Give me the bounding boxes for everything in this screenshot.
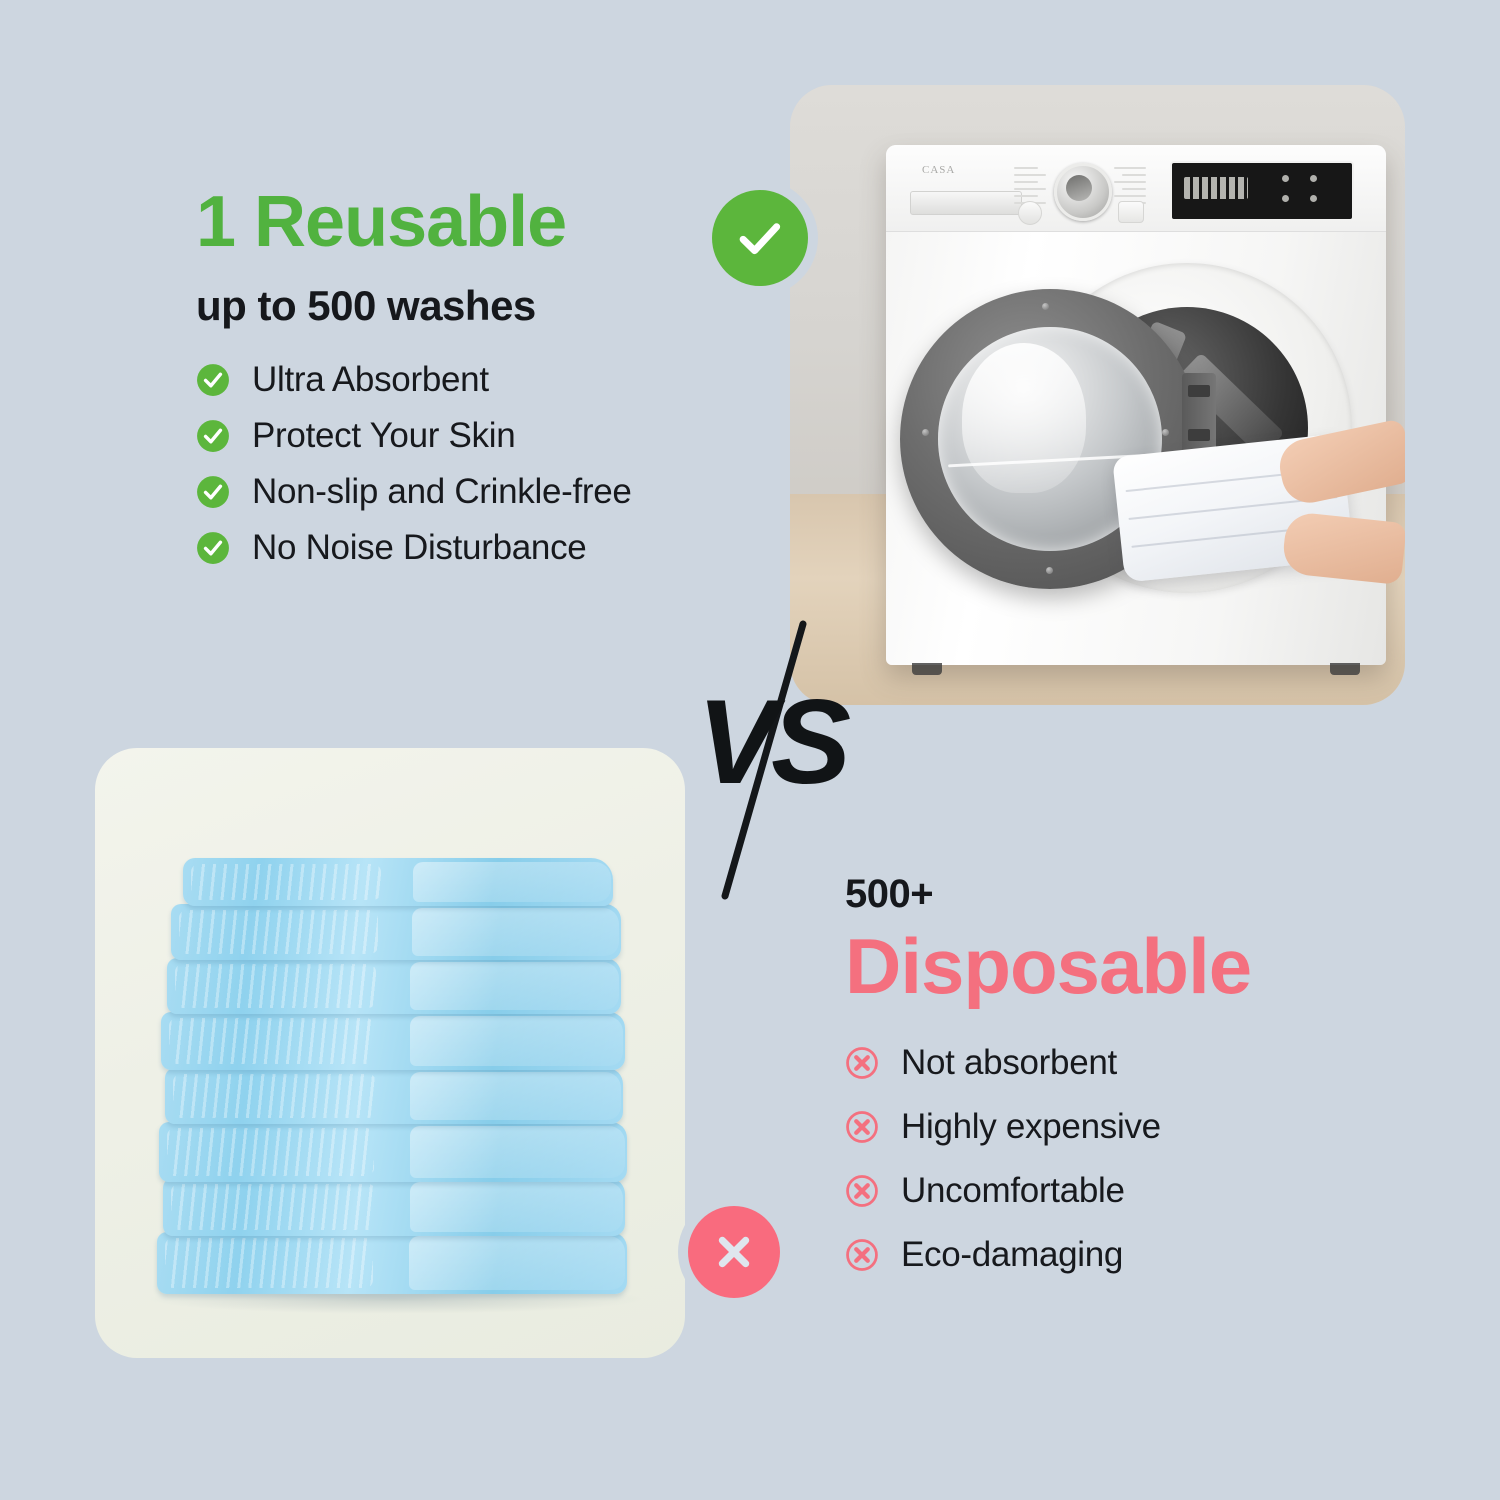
- list-item: Non-slip and Crinkle-free: [196, 472, 756, 512]
- folded-pad: [159, 1122, 627, 1182]
- folded-pad-top: [183, 858, 613, 906]
- lcd-indicator-2: [1310, 175, 1317, 182]
- list-item: Uncomfortable: [845, 1171, 1405, 1211]
- versus-label: VS: [697, 682, 845, 802]
- reusable-text-block: 1 Reusable up to 500 washes Ultra Absorb…: [196, 186, 756, 584]
- reusable-feature-list: Ultra Absorbent Protect Your Skin Non-sl…: [196, 360, 756, 568]
- program-dial: [1054, 163, 1112, 221]
- list-item: Protect Your Skin: [196, 416, 756, 456]
- feature-label: Protect Your Skin: [252, 416, 515, 456]
- lcd-display: [1170, 161, 1354, 221]
- lcd-indicator-4: [1310, 195, 1317, 202]
- appliance-brand-mark: CASA: [922, 164, 955, 176]
- list-item: Not absorbent: [845, 1043, 1405, 1083]
- control-panel: CASA: [886, 145, 1386, 232]
- door-screw: [1042, 303, 1049, 310]
- lcd-indicator-1: [1282, 175, 1289, 182]
- reusable-heading: 1 Reusable: [196, 186, 756, 258]
- versus-marker: VS: [655, 620, 875, 900]
- folded-pad: [161, 1012, 625, 1070]
- lcd-indicator-3: [1282, 195, 1289, 202]
- detergent-drawer: [910, 191, 1022, 215]
- folded-pad: [163, 1178, 625, 1236]
- list-item: Ultra Absorbent: [196, 360, 756, 400]
- feature-label: Non-slip and Crinkle-free: [252, 472, 632, 512]
- disposable-pads-photo: [95, 748, 685, 1358]
- hand-lower: [1281, 511, 1405, 585]
- folded-pad: [167, 958, 621, 1014]
- list-item: Eco-damaging: [845, 1235, 1405, 1275]
- x-circle-icon: [845, 1238, 879, 1272]
- list-item: No Noise Disturbance: [196, 528, 756, 568]
- disposable-heading: Disposable: [845, 927, 1405, 1005]
- drawback-label: Highly expensive: [901, 1107, 1161, 1147]
- washer-front-face: [886, 231, 1386, 665]
- lcd-segment-readout: [1184, 177, 1248, 199]
- check-circle-icon: [196, 419, 230, 453]
- feature-label: No Noise Disturbance: [252, 528, 586, 568]
- close-icon: [709, 1227, 759, 1277]
- door-screw: [1046, 567, 1053, 574]
- folded-pads-stack: [157, 864, 627, 1294]
- folded-pad: [171, 904, 621, 960]
- drawback-label: Eco-damaging: [901, 1235, 1123, 1275]
- disposable-kicker: 500+: [845, 872, 1405, 917]
- x-circle-icon: [845, 1174, 879, 1208]
- check-circle-icon: [196, 363, 230, 397]
- check-circle-icon: [196, 531, 230, 565]
- washer-foot: [912, 663, 942, 675]
- feature-label: Ultra Absorbent: [252, 360, 489, 400]
- drawback-label: Not absorbent: [901, 1043, 1117, 1083]
- washing-machine-body: CASA: [886, 145, 1386, 665]
- power-button: [1018, 201, 1042, 225]
- disposable-text-block: 500+ Disposable Not absorbent Highly exp…: [845, 872, 1405, 1299]
- door-screw: [1162, 429, 1169, 436]
- comparison-infographic: CASA: [0, 0, 1500, 1500]
- x-circle-icon: [845, 1046, 879, 1080]
- folded-pad: [165, 1068, 623, 1124]
- washer-foot: [1330, 663, 1360, 675]
- list-item: Highly expensive: [845, 1107, 1405, 1147]
- reusable-subheading: up to 500 washes: [196, 282, 756, 330]
- door-screw: [922, 429, 929, 436]
- x-circle-icon: [845, 1110, 879, 1144]
- check-circle-icon: [196, 475, 230, 509]
- washing-machine-photo: CASA: [790, 85, 1405, 705]
- folded-pad: [157, 1232, 627, 1294]
- drawback-label: Uncomfortable: [901, 1171, 1125, 1211]
- start-button: [1118, 201, 1144, 223]
- x-circle-badge: [688, 1206, 780, 1298]
- disposable-drawback-list: Not absorbent Highly expensive Uncomfort…: [845, 1043, 1405, 1275]
